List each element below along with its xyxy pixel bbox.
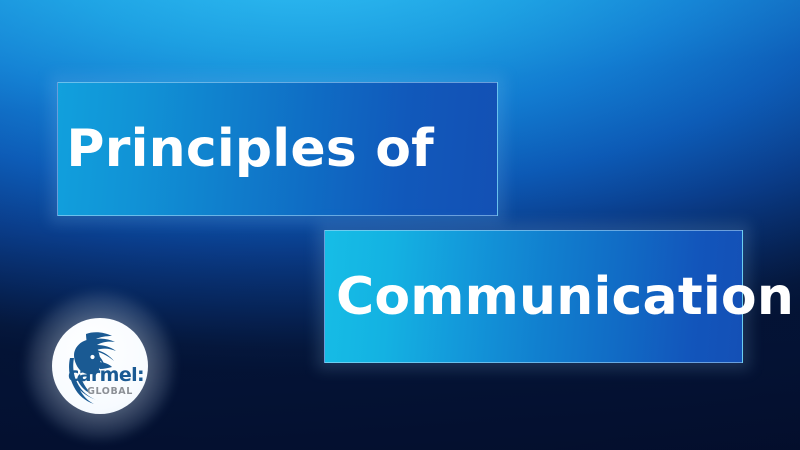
title-banner-line2: Communication <box>324 230 743 363</box>
carmel-global-logo: carmel: GLOBAL <box>44 310 156 422</box>
eagle-head-icon <box>52 318 148 414</box>
title-line1-text: Principles of <box>57 123 498 175</box>
eagle-eye-icon <box>90 355 94 359</box>
presentation-slide: Principles of Communication <box>0 0 800 450</box>
title-banner-line1: Principles of <box>57 82 498 216</box>
title-line2-text: Communication <box>324 271 743 323</box>
